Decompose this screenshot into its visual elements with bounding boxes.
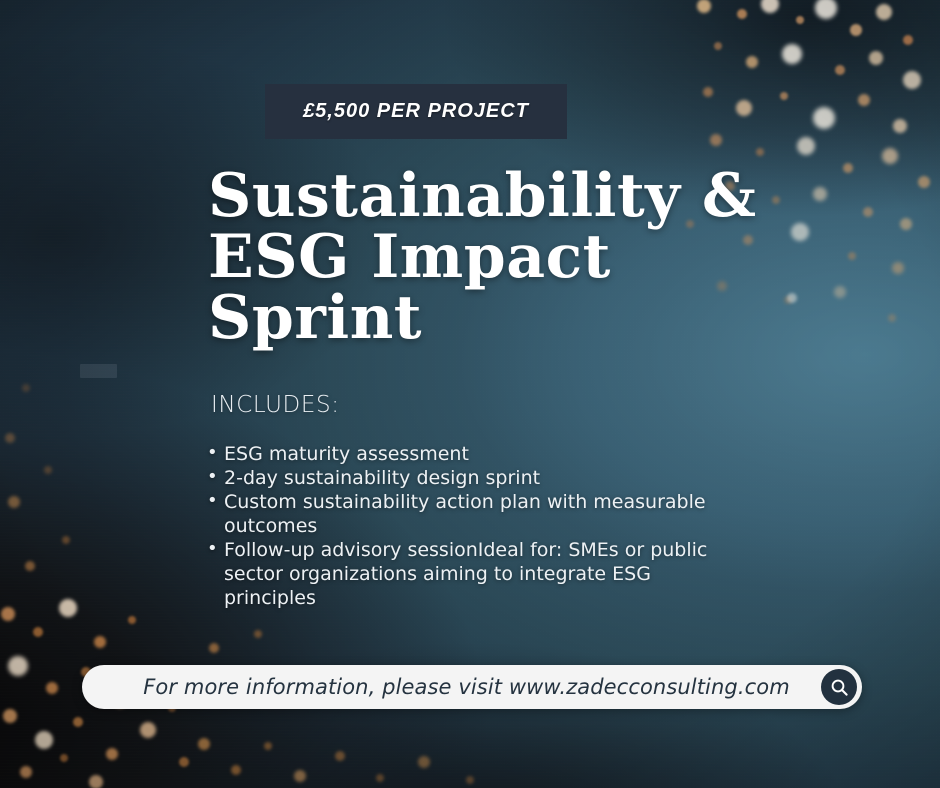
poster-content: £5,500 PER PROJECT Sustainability & ESG … [0, 0, 940, 788]
website-info-text: For more information, please visit www.z… [82, 675, 821, 699]
includes-label: INCLUDES: [211, 392, 340, 418]
includes-list: ESG maturity assessment2-day sustainabil… [205, 442, 725, 610]
list-item: Custom sustainability action plan with m… [205, 490, 725, 538]
page-title: Sustainability & ESG Impact Sprint [208, 166, 768, 349]
list-item: ESG maturity assessment [205, 442, 725, 466]
website-search-bar[interactable]: For more information, please visit www.z… [82, 665, 862, 709]
price-banner: £5,500 PER PROJECT [265, 84, 567, 139]
search-icon[interactable] [821, 669, 857, 705]
price-banner-label: £5,500 PER PROJECT [303, 100, 529, 123]
list-item: Follow-up advisory sessionIdeal for: SME… [205, 538, 725, 610]
poster-canvas: £5,500 PER PROJECT Sustainability & ESG … [0, 0, 940, 788]
list-item: 2-day sustainability design sprint [205, 466, 725, 490]
